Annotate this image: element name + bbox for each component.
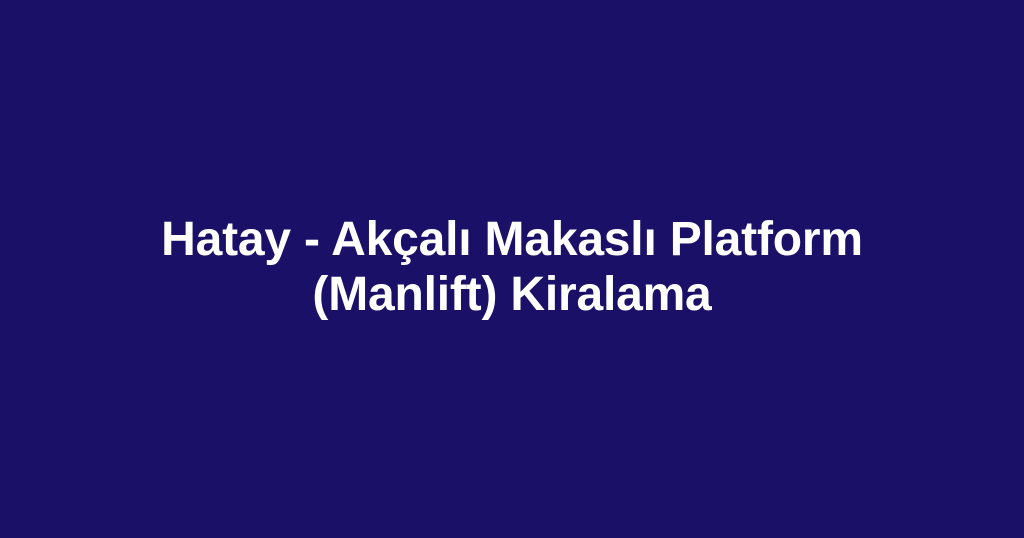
page-title: Hatay - Akçalı Makaslı Platform (Manlift…: [58, 212, 966, 322]
title-block: Hatay - Akçalı Makaslı Platform (Manlift…: [42, 212, 982, 322]
page-title-line-2: (Manlift) Kiralama: [58, 267, 966, 322]
page-title-line-1: Hatay - Akçalı Makaslı Platform: [58, 212, 966, 267]
share-card: Hatay - Akçalı Makaslı Platform (Manlift…: [0, 0, 1024, 538]
